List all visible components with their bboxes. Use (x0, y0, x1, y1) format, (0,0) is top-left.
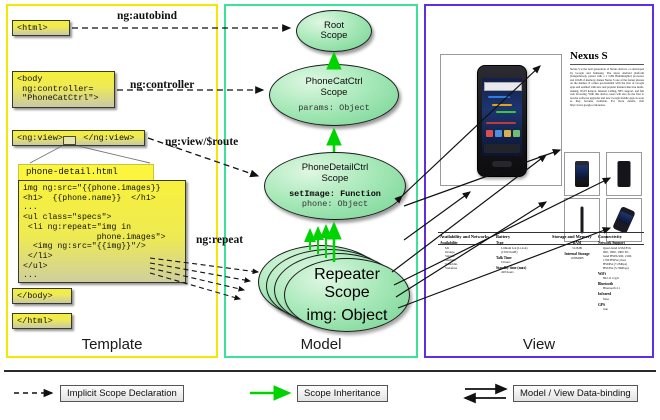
scope-phonedetailctrl-prop-phone: phone: Object (302, 199, 368, 209)
specs-value: 802.11 b/g/n (598, 276, 644, 280)
scope-phonedetailctrl-prop-setimage: setImage: Function (289, 189, 381, 199)
scope-phonecatctrl-title-1: PhoneCatCtrl (305, 77, 362, 88)
scope-phonedetailctrl-title-2: Scope (322, 174, 349, 185)
thumbnail-screen (576, 165, 588, 179)
scope-root: Root Scope (296, 10, 372, 52)
specs-column: Storage and Memory RAM 512MB Internal St… (552, 234, 602, 260)
legend-divider (4, 370, 656, 372)
specs-column: Connectivity Network Support Quad-band G… (598, 234, 644, 311)
repeater-scope-front: Repeater Scope img: Object (284, 258, 410, 332)
phone-description: Nexus S is the next generation of Nexus … (570, 68, 644, 144)
phone-home-button (492, 161, 512, 167)
panel-label-template: Template (6, 336, 218, 353)
phone-app-icon-1 (486, 130, 493, 137)
scope-phonecatctrl: PhoneCatCtrl Scope params: Object (269, 64, 399, 126)
specs-value: Bluetooth 2.1 (598, 286, 644, 290)
specs-column-header: Battery (496, 234, 546, 239)
body-close-tag: </body> (12, 288, 72, 304)
html-open-tag: <html> (12, 20, 70, 36)
specs-column-header: Storage and Memory (552, 234, 602, 239)
heading-rule (570, 64, 644, 65)
label-ng-repeat: ng:repeat (196, 234, 243, 246)
panel-label-view: View (424, 336, 654, 353)
thumbnail-phone-front (575, 161, 589, 187)
label-ng-autobind: ng:autobind (117, 10, 177, 22)
phone-app-icon-4 (513, 130, 520, 137)
legend-item-scope-inheritance: Scope Inheritance (297, 385, 388, 402)
specs-table: Availability and Networks Availability M… (438, 232, 644, 308)
phone-thumbnail[interactable] (564, 152, 600, 196)
thumbnail-phone-back (618, 161, 631, 187)
specs-value: true (598, 307, 644, 311)
specs-column: Availability and Networks Availability M… (440, 234, 490, 270)
scope-repeater-stack: Repeater Scope img: Object (258, 245, 410, 335)
specs-value: 428 hours (496, 270, 546, 274)
specs-value: 512MB (552, 246, 602, 250)
body-open-tag: <body ng:controller= "PhoneCatCtrl"> (12, 71, 115, 108)
phone-hero-image (477, 65, 527, 177)
label-ng-controller: ng:controller (130, 79, 194, 91)
view-rendered-page: Nexus S Nexus S is the next generation o… (432, 14, 646, 324)
callout-code: img ng:src="{{phone.images}} <h1> {{phon… (18, 180, 186, 283)
phone-screen (482, 78, 522, 156)
phone-screen-bar-3 (496, 111, 516, 113)
legend-item-model-view-data-binding: Model / View Data-binding (513, 385, 638, 402)
ngview-tag: <ng:view> </ng:view> (12, 130, 145, 146)
phone-screen-bar-4 (486, 122, 516, 124)
thumbnail-phone-side (581, 207, 584, 234)
legend-item-implicit-scope-declaration: Implicit Scope Declaration (60, 385, 184, 402)
specs-column-header: Connectivity (598, 234, 644, 239)
scope-root-title-2: Scope (321, 31, 348, 42)
scope-phonecatctrl-prop-params: params: Object (298, 103, 369, 113)
phone-screen-bar-2 (492, 104, 512, 106)
phone-screen-bar-1 (488, 96, 510, 98)
scope-repeater-title-1: Repeater (314, 266, 380, 284)
callout-filename: phone-detail.html (18, 164, 154, 180)
phone-hero-image-frame (440, 54, 562, 186)
panel-label-model: Model (224, 336, 418, 353)
diagram-canvas: <html> <body ng:controller= "PhoneCatCtr… (0, 0, 660, 420)
specs-value: false (598, 297, 644, 301)
phone-name-heading: Nexus S (570, 50, 608, 62)
specs-value: (1500 mAH) (496, 250, 546, 254)
specs-rule-top (438, 232, 644, 233)
phone-thumbnail[interactable] (606, 152, 642, 196)
phone-app-icon-2 (495, 130, 502, 137)
ngview-slot-icon (63, 136, 76, 145)
label-ng-view-route: ng:view/$route (165, 136, 238, 148)
scope-phonecatctrl-title-2: Scope (321, 88, 348, 99)
scope-repeater-title-2: Scope (324, 284, 369, 302)
specs-value: 16384MB (552, 256, 602, 260)
phone-app-icon-3 (504, 130, 511, 137)
scope-phonedetailctrl-title-1: PhoneDetailCtrl (302, 163, 369, 174)
scope-phonedetailctrl: PhoneDetailCtrl Scope setImage: Function… (264, 152, 406, 220)
thumbnail-phone-angled (612, 206, 635, 234)
phone-dock (484, 144, 520, 153)
specs-column: Battery Type Lithium Ion (Li-Ion) (1500 … (496, 234, 546, 274)
html-close-tag: </html> (12, 313, 72, 329)
thumbnail-screen (617, 211, 633, 225)
specs-value: Vodafone (440, 266, 490, 270)
scope-repeater-prop-img: img: Object (307, 307, 388, 325)
phone-search-widget (484, 82, 522, 91)
specs-value: 6 hours (496, 260, 546, 264)
specs-column-header: Availability and Networks (440, 234, 490, 239)
specs-value: HSUPA (5.76Mbps) (598, 266, 644, 270)
